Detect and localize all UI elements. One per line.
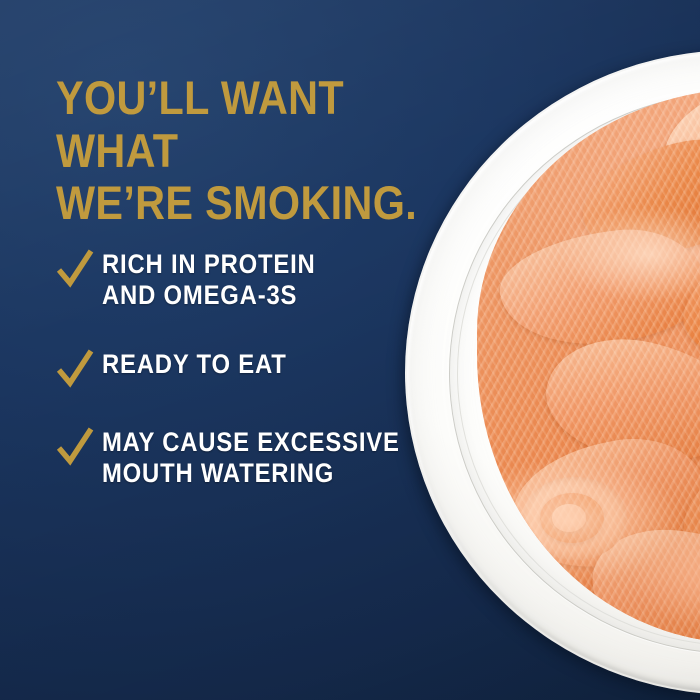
check-icon: [56, 426, 94, 468]
check-icon: [56, 248, 94, 290]
check-icon: [56, 348, 94, 390]
list-item-label: Ready to eat: [102, 346, 287, 380]
list-item: Ready to eat: [56, 346, 456, 390]
smoked-salmon-ad: You’ll want what we’re smoking. Rich in …: [0, 0, 700, 700]
list-item: Rich in protein and omega-3s: [56, 246, 456, 312]
list-item-label: Rich in protein and omega-3s: [102, 246, 316, 312]
page-title: You’ll want what we’re smoking.: [56, 72, 434, 230]
list-item: May cause excessive mouth watering: [56, 424, 456, 490]
list-item-label: May cause excessive mouth watering: [102, 424, 400, 490]
benefits-list: Rich in protein and omega-3s Ready to ea…: [56, 246, 456, 523]
